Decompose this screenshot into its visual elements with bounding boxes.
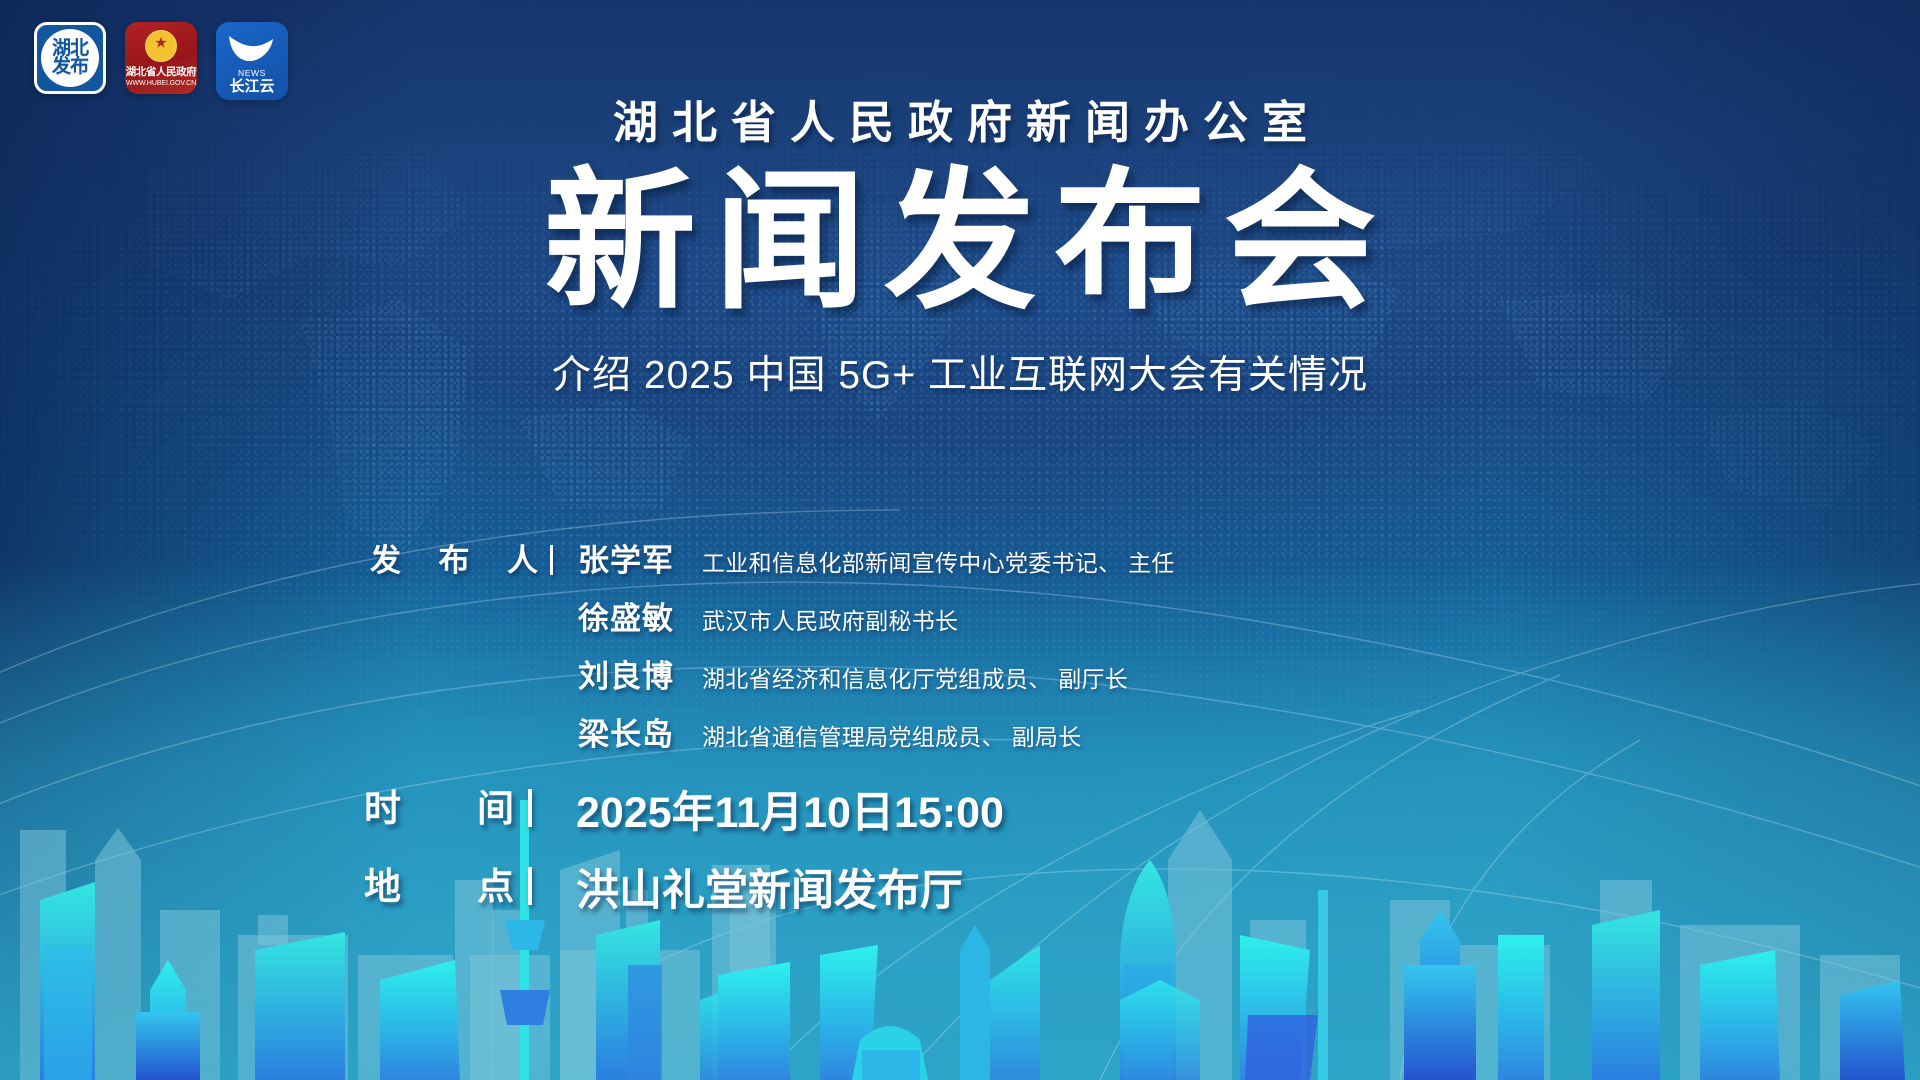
speaker-row: 张学军 工业和信息化部新闻宣传中心党委书记、 主任: [578, 535, 1920, 580]
place-label: 地点: [364, 856, 514, 910]
swoosh-icon: [227, 30, 277, 64]
divider-bar: [550, 545, 553, 575]
speaker-title: 工业和信息化部新闻宣传中心党委书记、 主任: [702, 544, 1175, 578]
speaker-name: 梁长岛: [578, 709, 702, 754]
time-section: 时间 2025年11月10日15:00: [576, 778, 1920, 840]
gov-logo-url: WWW.HUBEI.GOV.CN: [126, 80, 196, 87]
speaker-title: 湖北省经济和信息化厅党组成员、 副厅长: [702, 660, 1128, 694]
place-label-group: 地点: [364, 856, 546, 910]
hubei-fabu-logo-text: 湖北 发布: [37, 40, 103, 76]
hubei-fabu-logo[interactable]: 湖北 发布: [34, 22, 106, 94]
subtitle: 介绍 2025 中国 5G+ 工业互联网大会有关情况: [0, 344, 1920, 400]
place-value: 洪山礼堂新闻发布厅: [576, 867, 963, 915]
speaker-title: 武汉市人民政府副秘书长: [702, 602, 958, 636]
time-label-group: 时间: [364, 778, 546, 832]
logo-row: 湖北 发布 湖北省人民政府 WWW.HUBEI.GOV.CN NEWS 长江云: [34, 22, 288, 100]
organizer-line: 湖北省人民政府新闻办公室: [0, 98, 1920, 148]
place-inner: 地点 洪山礼堂新闻发布厅: [576, 856, 963, 918]
national-emblem-icon: [145, 30, 177, 62]
place-section: 地点 洪山礼堂新闻发布厅: [576, 856, 1920, 918]
speaker-name: 张学军: [578, 535, 702, 580]
time-label: 时间: [364, 778, 514, 832]
time-inner: 时间 2025年11月10日15:00: [576, 778, 1004, 840]
speaker-title: 湖北省通信管理局党组成员、 副局长: [702, 718, 1082, 752]
speaker-row: 梁长岛 湖北省通信管理局党组成员、 副局长: [578, 709, 1920, 754]
speaker-name: 徐盛敏: [578, 593, 702, 638]
speakers-label-group: 发布人: [370, 535, 569, 580]
headline-block: 湖北省人民政府新闻办公室 新闻发布会 介绍 2025 中国 5G+ 工业互联网大…: [0, 98, 1920, 400]
poster-canvas: 湖北 发布 湖北省人民政府 WWW.HUBEI.GOV.CN NEWS 长江云 …: [0, 0, 1920, 1080]
speaker-name: 刘良博: [578, 651, 702, 696]
cjy-name: 长江云: [229, 79, 274, 94]
divider-bar: [528, 867, 532, 905]
divider-bar: [528, 789, 532, 827]
time-value: 2025年11月10日15:00: [576, 789, 1004, 837]
page-title: 新闻发布会: [0, 154, 1920, 330]
speaker-row: 徐盛敏 武汉市人民政府副秘书长: [578, 593, 1920, 638]
hubei-government-logo[interactable]: 湖北省人民政府 WWW.HUBEI.GOV.CN: [125, 22, 197, 94]
changjiangyun-logo[interactable]: NEWS 长江云: [216, 22, 288, 100]
speaker-row: 刘良博 湖北省经济和信息化厅党组成员、 副厅长: [578, 651, 1920, 696]
details-block: 发布人 张学军 工业和信息化部新闻宣传中心党委书记、 主任 徐盛敏 武汉市人民政…: [0, 535, 1920, 918]
hubei-fabu-line2: 发布: [37, 58, 103, 76]
speakers-label: 发布人: [370, 535, 538, 580]
gov-logo-name: 湖北省人民政府: [126, 64, 197, 79]
speakers-section: 发布人 张学军 工业和信息化部新闻宣传中心党委书记、 主任 徐盛敏 武汉市人民政…: [578, 535, 1920, 754]
cjy-news-label: NEWS: [238, 68, 266, 78]
